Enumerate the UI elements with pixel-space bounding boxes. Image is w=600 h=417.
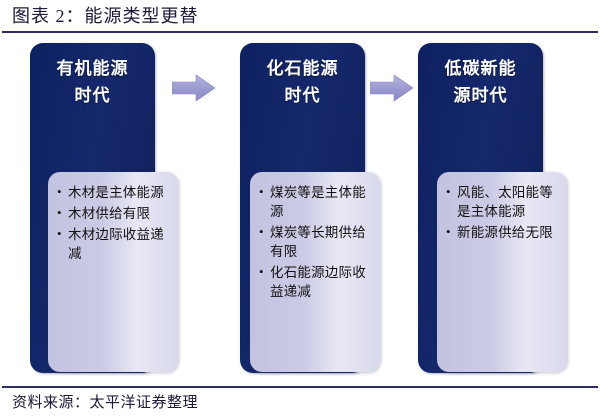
detail-card-organic: 木材是主体能源 木材供给有限 木材边际收益递减 (48, 172, 178, 372)
right-arrow-icon (370, 73, 414, 103)
list-item: 化石能源边际收益递减 (259, 263, 373, 301)
list-item: 煤炭等是主体能源 (259, 183, 373, 221)
era-title-line-2: 时代 (240, 82, 365, 109)
era-title-organic: 有机能源 时代 (30, 55, 155, 109)
list-item: 新能源供给无限 (446, 223, 560, 242)
list-item: 木材边际收益递减 (57, 225, 171, 263)
era-title-fossil: 化石能源 时代 (240, 55, 365, 109)
list-item: 木材是主体能源 (57, 183, 171, 202)
bullet-list-low-carbon: 风能、太阳能等是主体能源 新能源供给无限 (446, 183, 560, 244)
title-bar: 图表 2：能源类型更替 (0, 0, 600, 32)
bullet-list-fossil: 煤炭等是主体能源 煤炭等长期供给有限 化石能源边际收益递减 (259, 183, 373, 303)
right-arrow-icon (172, 73, 216, 103)
footer-divider (2, 386, 598, 388)
era-title-line-1: 化石能源 (240, 55, 365, 82)
era-title-line-2: 源时代 (418, 82, 543, 109)
bullet-list-organic: 木材是主体能源 木材供给有限 木材边际收益递减 (57, 183, 171, 265)
page-title: 图表 2：能源类型更替 (12, 4, 199, 28)
era-title-low-carbon: 低碳新能 源时代 (418, 55, 543, 109)
era-title-line-1: 低碳新能 (418, 55, 543, 82)
list-item: 木材供给有限 (57, 204, 171, 223)
era-title-line-1: 有机能源 (30, 55, 155, 82)
exhibit-figure: 图表 2：能源类型更替 有机能源 时代 木材是主体能源 木材供给有限 木材边际收… (0, 0, 600, 417)
era-title-line-2: 时代 (30, 82, 155, 109)
list-item: 风能、太阳能等是主体能源 (446, 183, 560, 221)
detail-card-fossil: 煤炭等是主体能源 煤炭等长期供给有限 化石能源边际收益递减 (250, 172, 380, 372)
list-item: 煤炭等长期供给有限 (259, 223, 373, 261)
detail-card-low-carbon: 风能、太阳能等是主体能源 新能源供给无限 (437, 172, 567, 372)
source-note: 资料来源：太平洋证券整理 (12, 392, 198, 414)
diagram-stage: 有机能源 时代 木材是主体能源 木材供给有限 木材边际收益递减 (0, 33, 600, 385)
